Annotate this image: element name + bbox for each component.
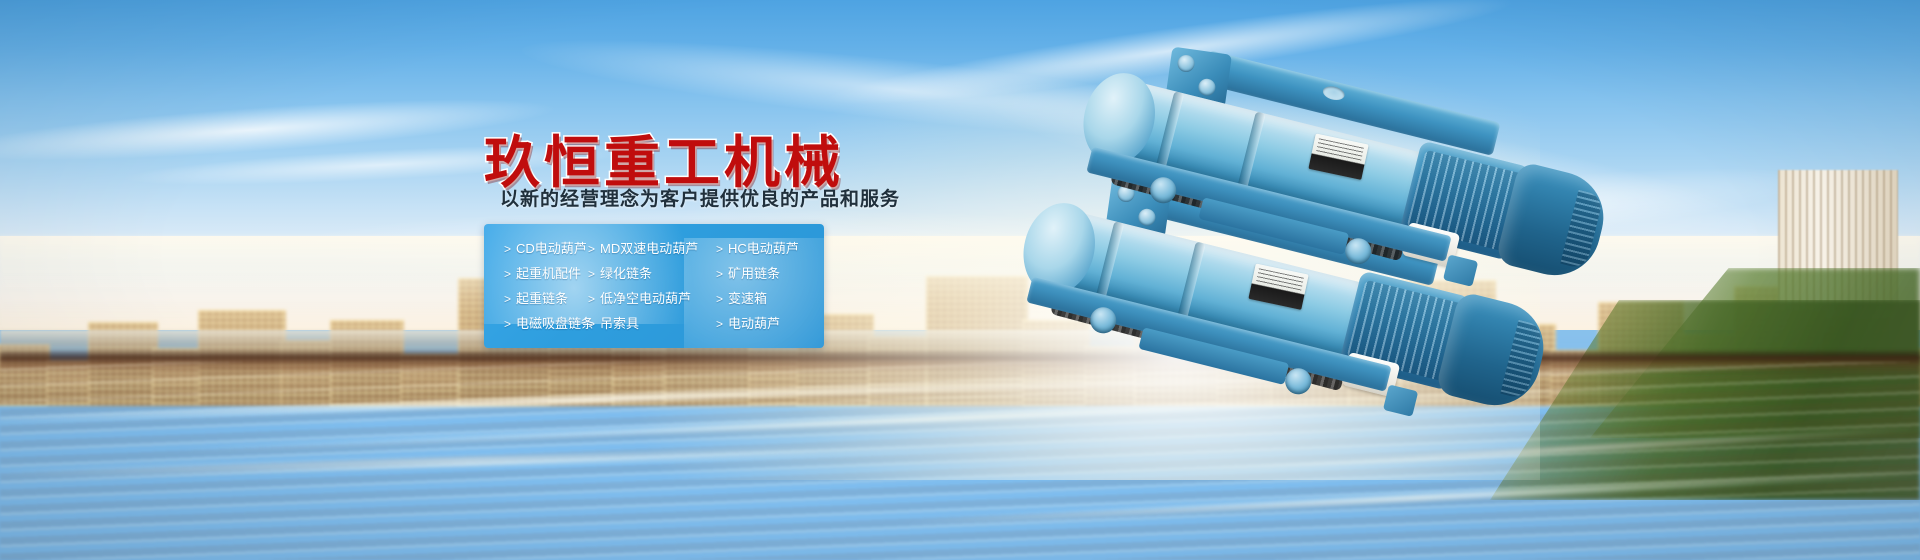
product-link-greening-chain[interactable]: > 绿化链条 (588, 267, 716, 280)
product-link-magnetic-chuck-chain[interactable]: > 电磁吸盘链条 (484, 317, 588, 330)
chevron-right-icon: > (716, 268, 723, 280)
product-link-lifting-chain[interactable]: > 起重链条 (484, 292, 588, 305)
atmospheric-haze (0, 236, 1920, 296)
product-link-label: 吊索具 (600, 317, 639, 330)
product-link-mining-chain[interactable]: > 矿用链条 (716, 267, 824, 280)
chevron-right-icon: > (504, 293, 511, 305)
product-link-gearbox[interactable]: > 变速箱 (716, 292, 824, 305)
product-link-cd-hoist[interactable]: > CD电动葫芦 (484, 242, 588, 255)
product-link-label: 低净空电动葫芦 (600, 292, 691, 305)
product-link-label: MD双速电动葫芦 (600, 242, 698, 255)
product-link-label: HC电动葫芦 (728, 242, 799, 255)
product-link-label: 绿化链条 (600, 267, 652, 280)
chevron-right-icon: > (588, 318, 595, 330)
product-row: > 起重链条 > 低净空电动葫芦 > 变速箱 (484, 286, 824, 311)
hook-lug (1443, 254, 1478, 286)
product-link-crane-parts[interactable]: > 起重机配件 (484, 267, 588, 280)
promotional-banner: 玖恒重工机械 以新的经营理念为客户提供优良的产品和服务 > CD电动葫芦 > M… (0, 0, 1920, 560)
product-link-label: 变速箱 (728, 292, 767, 305)
chevron-right-icon: > (504, 243, 511, 255)
product-link-md-dual-speed-hoist[interactable]: > MD双速电动葫芦 (588, 242, 716, 255)
product-links-panel: > CD电动葫芦 > MD双速电动葫芦 > HC电动葫芦 > 起重机配件 (484, 224, 824, 348)
page-subtitle: 以新的经营理念为客户提供优良的产品和服务 (500, 184, 900, 211)
product-row: > CD电动葫芦 > MD双速电动葫芦 > HC电动葫芦 (484, 236, 824, 261)
chevron-right-icon: > (588, 268, 595, 280)
chevron-right-icon: > (504, 318, 511, 330)
product-link-label: 起重链条 (516, 292, 568, 305)
hook-lug (1383, 384, 1418, 416)
product-link-label: 起重机配件 (516, 267, 581, 280)
product-link-electric-hoist[interactable]: > 电动葫芦 (716, 317, 824, 330)
product-row: > 起重机配件 > 绿化链条 > 矿用链条 (484, 261, 824, 286)
product-link-label: CD电动葫芦 (516, 242, 587, 255)
chevron-right-icon: > (716, 318, 723, 330)
chevron-right-icon: > (716, 243, 723, 255)
chevron-right-icon: > (588, 243, 595, 255)
product-link-low-headroom-hoist[interactable]: > 低净空电动葫芦 (588, 292, 716, 305)
product-link-slings[interactable]: > 吊索具 (588, 317, 716, 330)
product-link-hc-hoist[interactable]: > HC电动葫芦 (716, 242, 824, 255)
chevron-right-icon: > (504, 268, 511, 280)
chevron-right-icon: > (588, 293, 595, 305)
product-row: > 电磁吸盘链条 > 吊索具 > 电动葫芦 (484, 311, 824, 336)
product-link-label: 电动葫芦 (728, 317, 780, 330)
product-link-label: 矿用链条 (728, 267, 780, 280)
product-link-label: 电磁吸盘链条 (516, 317, 594, 330)
chevron-right-icon: > (716, 293, 723, 305)
